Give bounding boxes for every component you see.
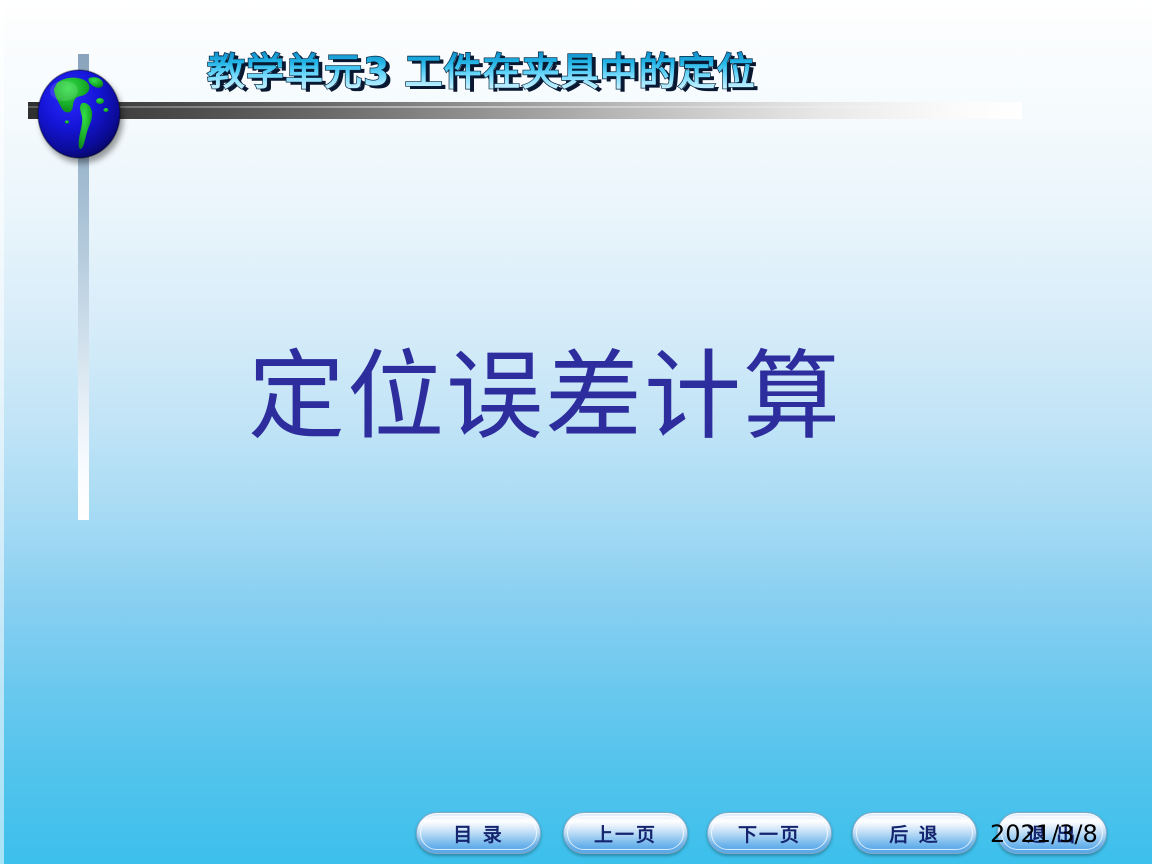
back-button-label: 后 退 [889, 820, 940, 847]
slide-canvas: 教学单元3 工件在夹具中的定位 教学单元3 工件在夹具中的定位 定位误差计算 目… [0, 0, 1152, 864]
previous-page-button[interactable]: 上一页 [563, 812, 688, 854]
main-title: 定位误差计算 [0, 341, 1090, 453]
date-stamp: 2021/3/8 [990, 820, 1098, 848]
previous-page-button-label: 上一页 [594, 820, 657, 847]
horizontal-rule-highlight [28, 106, 1022, 108]
back-button[interactable]: 后 退 [852, 812, 977, 854]
next-page-button[interactable]: 下一页 [707, 812, 832, 854]
svg-text:教学单元3 工件在夹具中的定位: 教学单元3 工件在夹具中的定位 [207, 50, 756, 94]
contents-button-label: 目 录 [453, 820, 504, 847]
horizontal-rule [28, 102, 1022, 119]
globe-icon [37, 69, 121, 159]
contents-button[interactable]: 目 录 [416, 812, 541, 854]
next-page-button-label: 下一页 [738, 820, 801, 847]
header-title: 教学单元3 工件在夹具中的定位 教学单元3 工件在夹具中的定位 [205, 47, 965, 101]
